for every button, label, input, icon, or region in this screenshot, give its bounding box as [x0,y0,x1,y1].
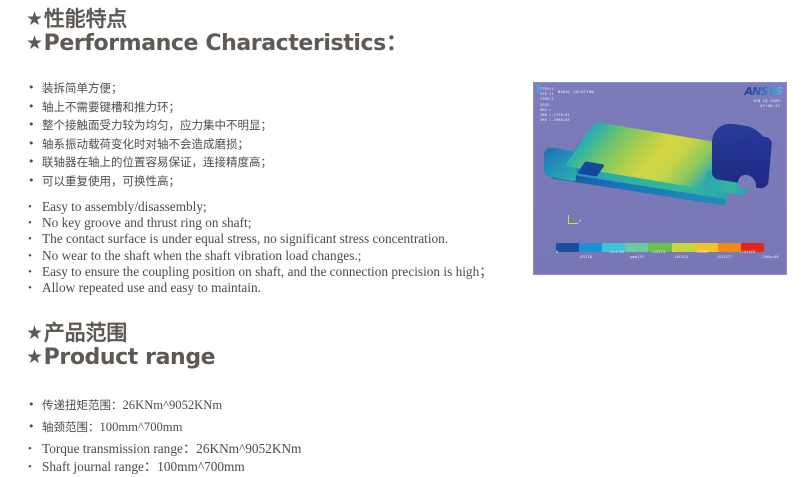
product-range-heading-cn-text: 产品范围 [44,321,127,345]
colorbar-tick: .03218 [578,255,592,259]
list-item: 可以重复使用，可换性高； [28,172,272,191]
colorbar-tick: 0 [556,250,558,254]
list-item: 整个接触面受力较为均匀，应力集中不明显； [28,116,272,135]
fea-viewport: NODAL SOLUTION STEP=1 SUB =1 TIME=1 SEQV… [534,83,786,274]
performance-heading-cn-text: 性能特点 [44,7,127,31]
star-icon: ★ [26,34,43,53]
star-icon: ★ [26,10,43,29]
performance-heading-cn: ★性能特点 [26,8,407,32]
spec-label: 轴颈范围： [42,420,100,434]
colorbar-tick: .2e34CR [739,250,756,254]
product-range-specs-en: Torque transmission range：26KNm^9052KNm … [28,440,301,476]
list-item: 轴系振动载荷变化时对轴不会造成磨损； [28,135,272,154]
performance-bullets-cn: 装拆简单方便； 轴上不需要键槽和推力环； 整个接触面受力较为均匀，应力集中不明显… [28,79,272,191]
coupling-stress-model: Z [540,123,782,233]
list-item: 轴上不需要键槽和推力环； [28,98,272,117]
spec-value: 26KNm^9052KNm [123,398,223,412]
colorbar-tick: .13273 [651,250,665,254]
fea-date-stamp: JUN 18 2009 07:08:34 [753,99,780,110]
performance-heading-block: ★性能特点 ★Performance Characteristics： [26,8,407,56]
star-icon: ★ [26,348,43,367]
axis-triad-icon: Z [568,215,580,225]
list-item: 联轴器在轴上的位置容易保证，连接精度高； [28,153,272,172]
list-item: Allow repeated use and easy to maintain. [28,280,493,296]
list-item: 轴颈范围：100mm^700mm [28,416,222,438]
colorbar-tick: .032277 [716,255,733,259]
product-range-heading-en: ★Product range [26,346,215,371]
colorbar-tick: .8e4/e5 [608,250,625,254]
list-item: Shaft journal range：100mm^700mm [28,458,301,476]
product-range-heading-en-text: Product range [44,345,216,370]
product-range-heading-cn: ★产品范围 [26,322,215,346]
colorbar-tick: .296e+06 [760,255,779,259]
colorbar-tick: .19085 [694,250,708,254]
list-item: No key groove and thrust ring on shaft; [28,215,493,231]
performance-bullets-en: Easy to assembly/disassembly; No key gro… [28,199,493,296]
axis-label: Z [579,219,581,223]
list-item: No wear to the shaft when the shaft vibr… [28,248,493,264]
performance-heading-en: ★Performance Characteristics： [26,32,407,57]
list-item: 传递扭矩范围：26KNm^9052KNm [28,394,222,416]
colorbar-tick-labels: 0 .8e4/e5 .13273 .19085 .2e34CR .03218 .… [546,250,776,262]
list-item: 装拆简单方便； [28,79,272,98]
list-item: Easy to assembly/disassembly; [28,199,493,215]
colorbar-tick: .16CR12 [672,255,689,259]
colorbar-tick: .gme147 [628,255,645,259]
ansys-logo: ANSYS [744,85,782,98]
list-item: Torque transmission range：26KNm^9052KNm [28,440,301,458]
product-range-heading-block: ★产品范围 ★Product range [26,322,215,370]
ansys-fea-figure: NODAL SOLUTION STEP=1 SUB =1 TIME=1 SEQV… [533,82,787,275]
fea-header-block: STEP=1 SUB =1 TIME=1 SEQV DMX = SMN =.17… [540,87,570,123]
spec-value: 100mm^700mm [100,420,183,434]
star-icon: ★ [26,324,43,343]
product-range-specs-cn: 传递扭矩范围：26KNm^9052KNm 轴颈范围：100mm^700mm [28,394,222,438]
list-item: Easy to ensure the coupling position on … [28,264,493,280]
list-item: The contact surface is under equal stres… [28,231,493,247]
spec-label: 传递扭矩范围： [42,398,123,412]
performance-heading-en-text: Performance Characteristics： [44,31,408,56]
viewport-corner-marker [537,85,539,93]
